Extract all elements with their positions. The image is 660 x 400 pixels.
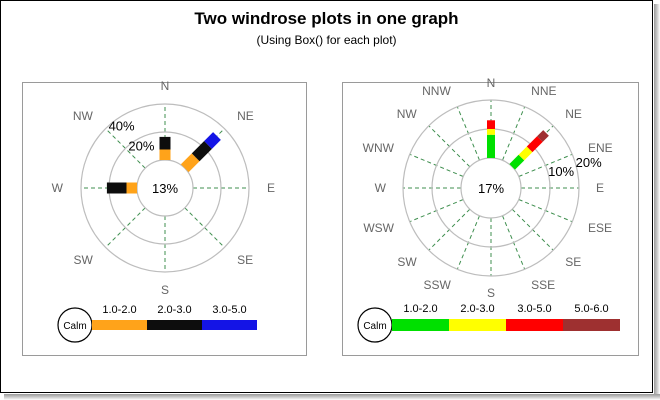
legend-swatch-3 [202, 320, 257, 330]
direction-label-nw: NW [73, 109, 94, 123]
window-shadow-right [654, 4, 660, 400]
direction-label-sw: SW [397, 255, 417, 269]
legend-label-3: 3.0-5.0 [212, 304, 246, 316]
direction-label-w: W [52, 181, 64, 195]
legend-label-3: 3.0-5.0 [517, 303, 551, 315]
direction-label-nne: NNE [531, 84, 556, 98]
legend-label-1: 1.0-2.0 [403, 303, 437, 315]
direction-label-e: E [596, 181, 604, 195]
legend-swatch-2 [449, 319, 506, 331]
chart-subtitle: (Using Box() for each plot) [0, 33, 653, 47]
window-shadow-bottom [4, 394, 660, 400]
petal-n-30to50 [487, 120, 495, 129]
legend-swatch-2 [147, 320, 202, 330]
direction-label-n: N [161, 79, 170, 93]
calm-percent-label: 17% [478, 181, 504, 196]
legend-swatch-4 [563, 319, 620, 331]
ring-percent-label-40: 40% [109, 119, 135, 134]
petal-w-10to20 [127, 183, 138, 194]
legend-swatch-3 [506, 319, 563, 331]
right-windrose-chart: NNNENEENEEESESESSESSSWSWWSWWWNWNWNNW17%1… [343, 83, 638, 298]
direction-label-sw: SW [74, 253, 94, 267]
legend-label-1: 1.0-2.0 [102, 304, 136, 316]
left-plot-panel: NNEESESSWWNW13%20%40% Calm1.0-2.02.0-3.0… [22, 82, 307, 356]
direction-label-se: SE [237, 253, 253, 267]
right-legend: Calm1.0-2.02.0-3.03.0-5.05.0-6.0 [343, 295, 638, 355]
direction-label-w: W [375, 181, 387, 195]
legend-label-2: 2.0-3.0 [460, 303, 494, 315]
petal-w-20to30 [107, 183, 127, 194]
direction-label-ne: NE [565, 107, 582, 121]
direction-label-e: E [267, 181, 275, 195]
direction-label-ne: NE [237, 109, 254, 123]
petal-n-10to20 [487, 135, 495, 158]
ring-percent-label-20: 20% [576, 155, 602, 170]
direction-label-n: N [487, 76, 496, 90]
petal-n-20to30 [487, 129, 495, 135]
legend-label-4: 5.0-6.0 [574, 303, 608, 315]
ring-percent-label-10: 10% [548, 164, 574, 179]
calm-percent-label: 13% [152, 181, 178, 196]
direction-label-wsw: WSW [363, 221, 394, 235]
petal-n-10to20 [160, 150, 171, 161]
left-windrose-chart: NNEESESSWWNW13%20%40% [23, 83, 306, 298]
direction-label-nnw: NNW [422, 84, 451, 98]
legend-swatch-1 [392, 319, 449, 331]
petal-n-20to30 [160, 137, 171, 150]
right-plot-panel: NNNENEENEEESESESSESSSWSWWSWWWNWNWNNW17%1… [342, 82, 639, 356]
legend-calm-label: Calm [363, 321, 386, 332]
direction-label-ene: ENE [588, 141, 613, 155]
ring-percent-label-20: 20% [128, 138, 154, 153]
legend-calm-label: Calm [63, 321, 86, 332]
direction-label-sse: SSE [531, 278, 555, 292]
direction-label-wnw: WNW [363, 141, 395, 155]
screenshot-canvas: Two windrose plots in one graph (Using B… [0, 0, 660, 400]
direction-label-nw: NW [397, 107, 418, 121]
direction-label-ssw: SSW [423, 278, 451, 292]
direction-label-ese: ESE [588, 221, 612, 235]
chart-title: Two windrose plots in one graph [0, 9, 653, 29]
left-legend: Calm1.0-2.02.0-3.03.0-5.0 [23, 295, 306, 355]
direction-label-se: SE [565, 255, 581, 269]
legend-swatch-1 [92, 320, 147, 330]
legend-label-2: 2.0-3.0 [157, 304, 191, 316]
